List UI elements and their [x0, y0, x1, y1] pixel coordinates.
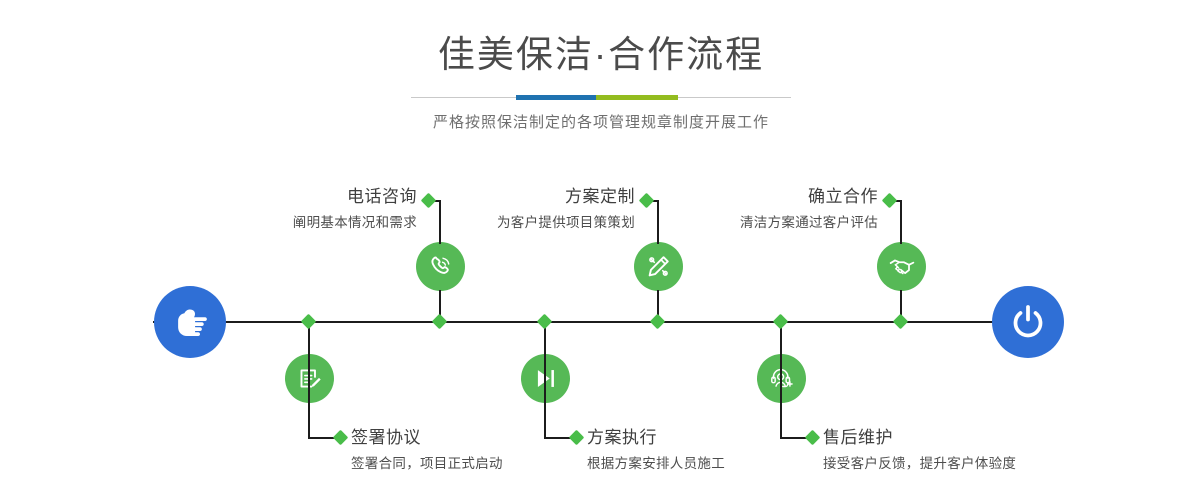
axis-diamond-1 [432, 314, 448, 330]
step-desc-1: 阐明基本情况和需求 [293, 205, 417, 230]
connector-diamond-5 [882, 193, 898, 209]
page-title: 佳美保洁·合作流程 [0, 0, 1202, 73]
connector-diamond-2 [333, 430, 349, 446]
step-desc-2: 签署合同，项目正式启动 [351, 446, 503, 471]
axis-diamond-6 [773, 314, 789, 330]
divider-segment-green [596, 95, 678, 100]
step-title-1: 电话咨询 [293, 188, 417, 205]
step-label-1: 电话咨询 阐明基本情况和需求 [293, 188, 417, 230]
step-title-2: 签署协议 [351, 429, 503, 446]
connector-vertical-5 [900, 200, 902, 244]
connector-vertical-1 [439, 200, 441, 244]
step-label-4: 方案执行 根据方案安排人员施工 [587, 429, 725, 471]
connector-diamond-1 [421, 193, 437, 209]
pointing-hand-icon [170, 302, 210, 342]
power-icon [1008, 302, 1048, 342]
axis-diamond-3 [650, 314, 666, 330]
step-label-2: 签署协议 签署合同，项目正式启动 [351, 429, 503, 471]
connector-vertical-4 [544, 322, 546, 438]
connector-vertical-2 [308, 322, 310, 438]
axis-diamond-4 [537, 314, 553, 330]
step-icon-circle-5 [877, 242, 926, 291]
axis-diamond-5 [893, 314, 909, 330]
step-label-6: 售后维护 接受客户反馈，提升客户体验度 [823, 429, 1016, 471]
step-desc-5: 清洁方案通过客户评估 [740, 205, 878, 230]
connector-diamond-3 [639, 193, 655, 209]
pen-ruler-icon [645, 253, 672, 280]
process-flow-infographic: 佳美保洁·合作流程 严格按照保洁制定的各项管理规章制度开展工作 [0, 0, 1202, 502]
axis-diamond-2 [301, 314, 317, 330]
step-desc-4: 根据方案安排人员施工 [587, 446, 725, 471]
step-title-6: 售后维护 [823, 429, 1016, 446]
title-divider [411, 95, 791, 101]
step-label-5: 确立合作 清洁方案通过客户评估 [740, 188, 878, 230]
page-subtitle: 严格按照保洁制定的各项管理规章制度开展工作 [0, 101, 1202, 130]
handshake-icon [888, 253, 916, 281]
connector-diamond-6 [805, 430, 821, 446]
connector-vertical-3 [657, 200, 659, 244]
connector-diamond-4 [569, 430, 585, 446]
step-icon-circle-3 [634, 242, 683, 291]
step-title-3: 方案定制 [497, 188, 635, 205]
timeline-start-node [154, 286, 226, 358]
step-desc-6: 接受客户反馈，提升客户体验度 [823, 446, 1016, 471]
step-label-3: 方案定制 为客户提供项目策策划 [497, 188, 635, 230]
phone-call-icon [427, 253, 454, 280]
timeline-axis [153, 321, 1049, 323]
divider-segment-blue [516, 95, 596, 100]
header: 佳美保洁·合作流程 严格按照保洁制定的各项管理规章制度开展工作 [0, 0, 1202, 130]
timeline-end-node [992, 286, 1064, 358]
step-title-4: 方案执行 [587, 429, 725, 446]
connector-vertical-6 [780, 322, 782, 438]
step-icon-circle-1 [416, 242, 465, 291]
step-title-5: 确立合作 [740, 188, 878, 205]
step-desc-3: 为客户提供项目策策划 [497, 205, 635, 230]
